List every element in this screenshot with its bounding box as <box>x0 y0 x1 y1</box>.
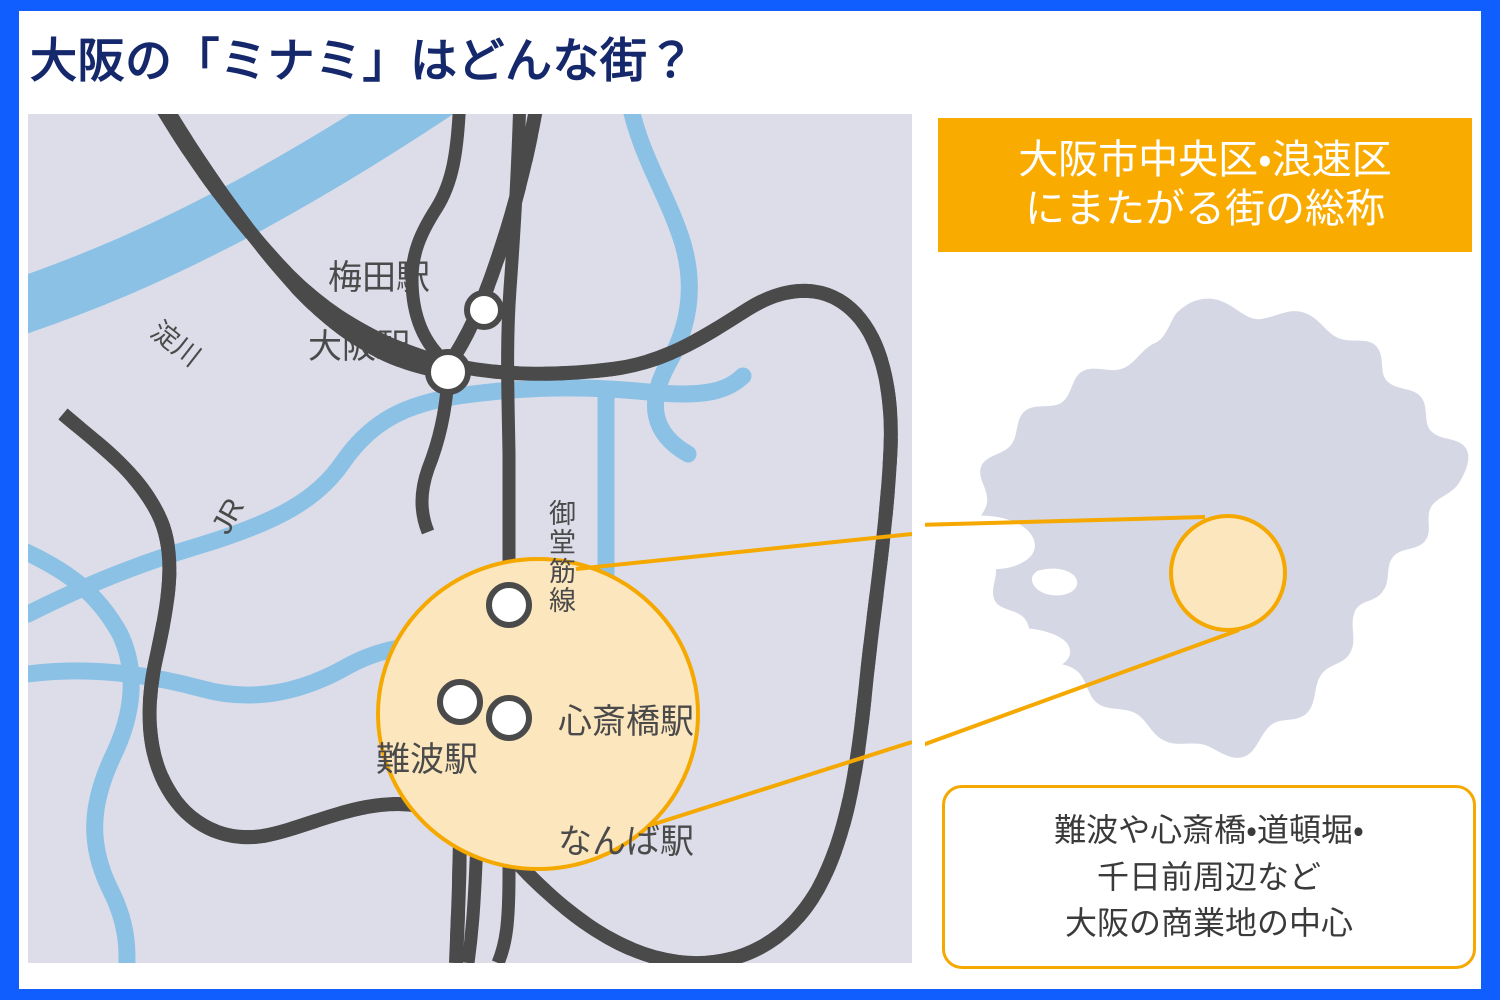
station-marker-namba-jr <box>440 682 480 722</box>
river-central <box>28 376 743 614</box>
callout-banner: 大阪市中央区・浪速区 にまたがる街の総称 <box>938 118 1472 252</box>
station-marker-osaka <box>428 352 468 392</box>
callout-connector-upper <box>576 534 912 569</box>
map-label-shinsaibashi-station: 心斎橋駅 <box>558 694 694 743</box>
page-title: 大阪の「ミナミ」はどんな街？ <box>30 22 695 91</box>
osaka-city-map: 大阪市 <box>925 285 1485 775</box>
description-line-2: 千日前周辺など <box>1097 854 1321 900</box>
description-line-1: 難波や心斎橋・道頓堀・ <box>1054 807 1364 853</box>
umeda-branch-path <box>412 114 460 364</box>
description-box: 難波や心斎橋・道頓堀・ 千日前周辺など 大阪の商業地の中心 <box>942 785 1476 969</box>
description-line-3: 大阪の商業地の中心 <box>1065 900 1353 946</box>
callout-banner-line-1: 大阪市中央区・浪速区 <box>1018 136 1392 185</box>
frame-border-bottom <box>0 989 1500 1000</box>
map-label-namba-station: なんば駅 <box>558 814 694 863</box>
map-label-midosuji-line: 御堂筋線 <box>546 499 573 615</box>
map-label-namba-jr-station: 難波駅 <box>376 732 478 781</box>
map-label-osaka-station: 大阪駅 <box>308 319 410 368</box>
area-map-graphic <box>28 114 912 963</box>
callout-banner-line-2: にまたがる街の総称 <box>1025 185 1385 234</box>
area-map-panel: 梅田駅 大阪駅 心斎橋駅 難波駅 なんば駅 淀川 JR 御堂筋線 <box>28 114 912 963</box>
station-marker-umeda <box>467 293 501 327</box>
river-northeast <box>628 114 689 454</box>
station-marker-namba <box>489 698 529 738</box>
osaka-city-highlight-circle <box>1171 516 1285 630</box>
station-marker-shinsaibashi <box>489 585 529 625</box>
frame-border-left <box>0 0 19 1000</box>
frame-border-top <box>0 0 1500 11</box>
osaka-city-map-graphic <box>925 285 1485 775</box>
map-label-umeda-station: 梅田駅 <box>328 250 430 299</box>
